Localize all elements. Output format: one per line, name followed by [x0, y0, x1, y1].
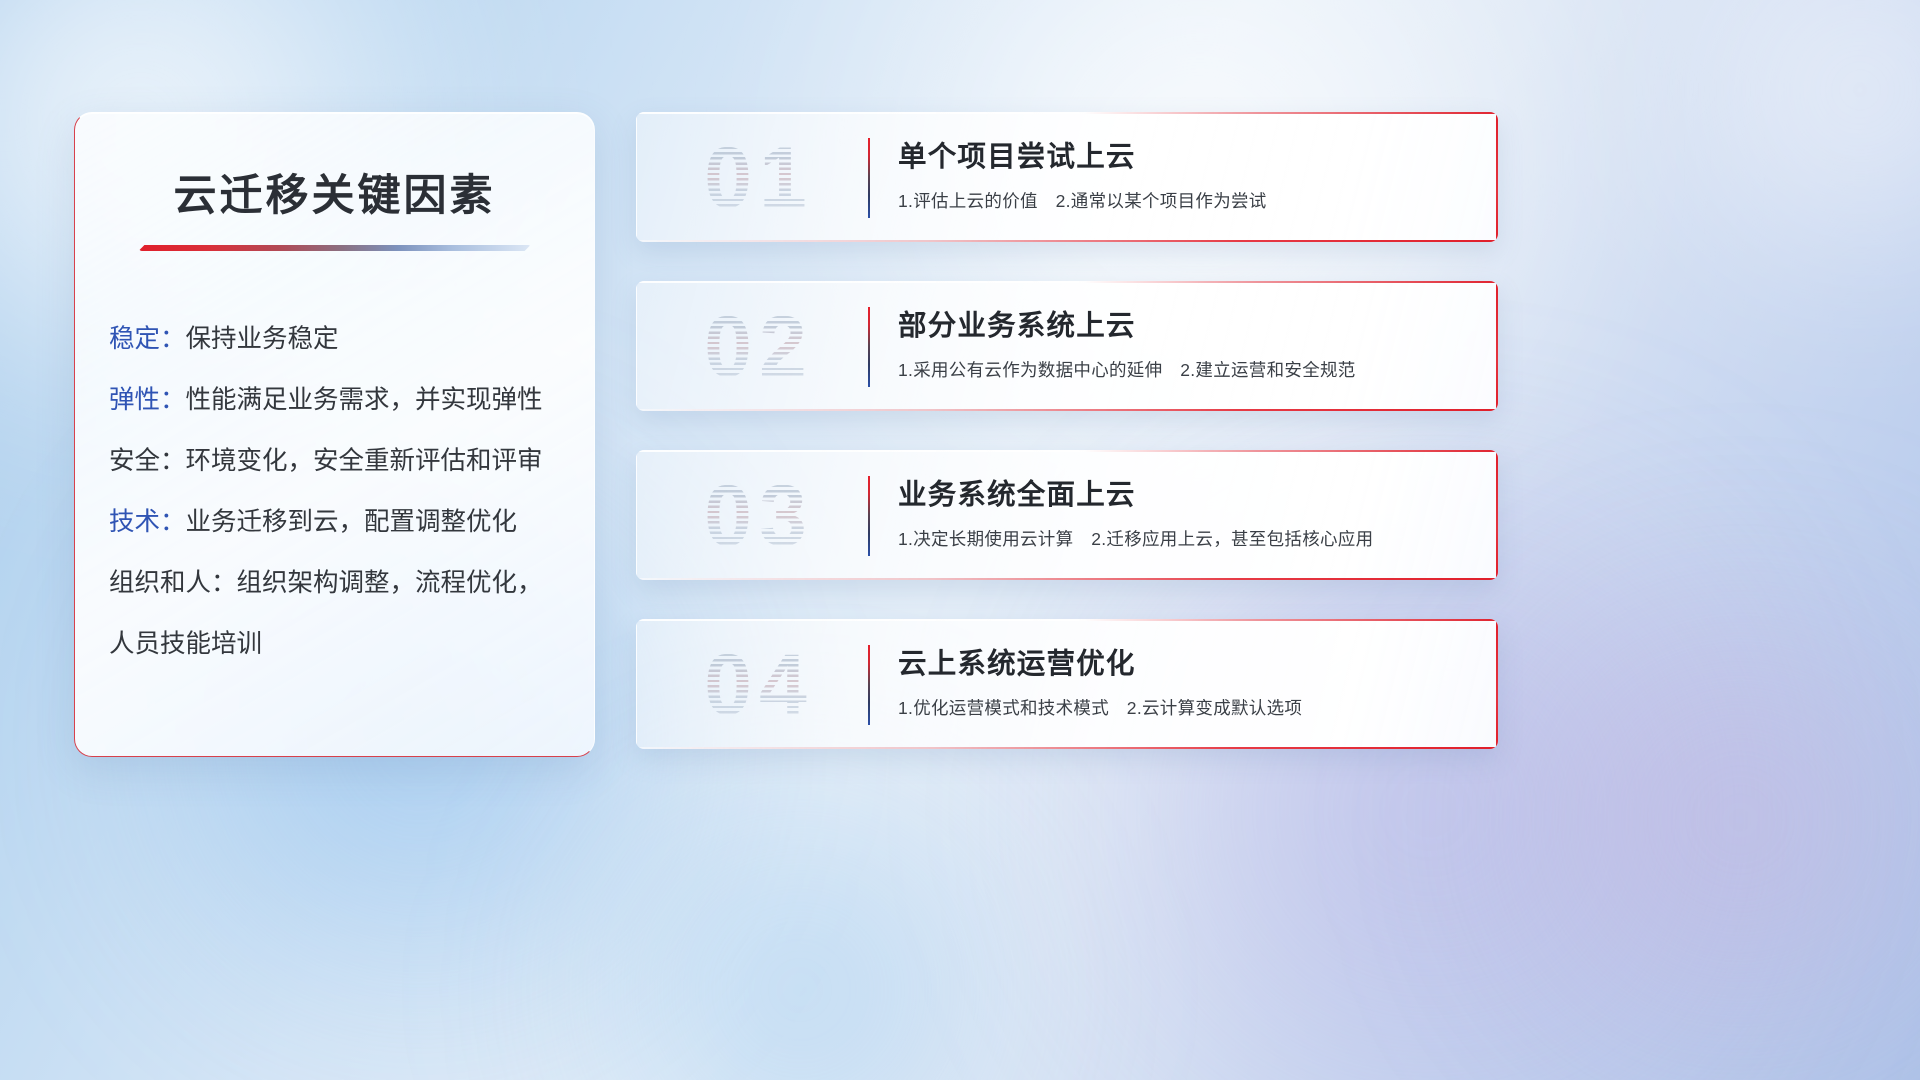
- card-left-edge: [636, 621, 637, 747]
- stage-card[interactable]: 04 云上系统运营优化 1.优化运营模式和技术模式 2.云计算变成默认选项: [636, 619, 1498, 749]
- card-description: 1.评估上云的价值 2.通常以某个项目作为尝试: [898, 188, 1474, 213]
- list-item-value: 业务迁移到云，配置调整优化: [186, 508, 518, 536]
- list-item-value: 性能满足业务需求，并实现弹性: [186, 386, 543, 414]
- card-title: 业务系统全面上云: [898, 472, 1474, 513]
- card-bottom-accent: [636, 240, 1498, 242]
- card-divider: [868, 138, 870, 218]
- card-top-accent: [636, 450, 1498, 452]
- list-item: 安全：环境变化，安全重新评估和评审: [109, 431, 594, 492]
- stage-number: 02: [664, 295, 854, 399]
- card-title: 部分业务系统上云: [898, 303, 1474, 344]
- card-title: 单个项目尝试上云: [898, 134, 1474, 175]
- title-underline-gradient: [139, 245, 531, 251]
- card-right-accent: [1496, 619, 1498, 749]
- list-item-key: 安全：: [109, 447, 186, 475]
- list-item-value: 组织架构调整，流程优化，: [237, 569, 543, 597]
- card-top-accent: [636, 112, 1498, 114]
- migration-stage-cards: 01 单个项目尝试上云 1.评估上云的价值 2.通常以某个项目作为尝试 02 部…: [636, 112, 1498, 788]
- page-title: 云迁移关键因素: [75, 161, 594, 223]
- stage-card[interactable]: 01 单个项目尝试上云 1.评估上云的价值 2.通常以某个项目作为尝试: [636, 112, 1498, 242]
- card-bottom-accent: [636, 747, 1498, 749]
- card-right-accent: [1496, 450, 1498, 580]
- card-left-edge: [636, 114, 637, 240]
- list-item-key: 技术：: [109, 508, 186, 536]
- key-factors-panel: 云迁移关键因素 稳定：保持业务稳定 弹性：性能满足业务需求，并实现弹性 安全：环…: [74, 112, 595, 757]
- card-divider: [868, 476, 870, 556]
- card-top-accent: [636, 281, 1498, 283]
- list-item: 组织和人：组织架构调整，流程优化，: [109, 553, 594, 614]
- card-top-accent: [636, 619, 1498, 621]
- key-factors-list: 稳定：保持业务稳定 弹性：性能满足业务需求，并实现弹性 安全：环境变化，安全重新…: [109, 309, 594, 675]
- card-content: 业务系统全面上云 1.决定长期使用云计算 2.迁移应用上云，甚至包括核心应用: [898, 472, 1474, 551]
- card-left-edge: [636, 452, 637, 578]
- card-description: 1.决定长期使用云计算 2.迁移应用上云，甚至包括核心应用: [898, 526, 1474, 551]
- list-item-key: 弹性：: [109, 386, 186, 414]
- card-content: 部分业务系统上云 1.采用公有云作为数据中心的延伸 2.建立运营和安全规范: [898, 303, 1474, 382]
- list-item: 人员技能培训: [109, 614, 594, 675]
- card-bottom-accent: [636, 578, 1498, 580]
- stage-number: 04: [664, 633, 854, 737]
- card-left-edge: [636, 283, 637, 409]
- card-title: 云上系统运营优化: [898, 641, 1474, 682]
- list-item-value: 保持业务稳定: [186, 325, 339, 353]
- card-description: 1.采用公有云作为数据中心的延伸 2.建立运营和安全规范: [898, 357, 1474, 382]
- list-item-value: 人员技能培训: [109, 630, 262, 658]
- stage-card[interactable]: 02 部分业务系统上云 1.采用公有云作为数据中心的延伸 2.建立运营和安全规范: [636, 281, 1498, 411]
- card-description: 1.优化运营模式和技术模式 2.云计算变成默认选项: [898, 695, 1474, 720]
- card-right-accent: [1496, 112, 1498, 242]
- card-content: 云上系统运营优化 1.优化运营模式和技术模式 2.云计算变成默认选项: [898, 641, 1474, 720]
- list-item-key: 组织和人：: [109, 569, 237, 597]
- list-item: 弹性：性能满足业务需求，并实现弹性: [109, 370, 594, 431]
- list-item: 技术：业务迁移到云，配置调整优化: [109, 492, 594, 553]
- stage-number: 03: [664, 464, 854, 568]
- list-item-value: 环境变化，安全重新评估和评审: [186, 447, 543, 475]
- list-item-key: 稳定：: [109, 325, 186, 353]
- card-right-accent: [1496, 281, 1498, 411]
- stage-number: 01: [664, 126, 854, 230]
- list-item: 稳定：保持业务稳定: [109, 309, 594, 370]
- card-bottom-accent: [636, 409, 1498, 411]
- card-divider: [868, 307, 870, 387]
- card-divider: [868, 645, 870, 725]
- card-content: 单个项目尝试上云 1.评估上云的价值 2.通常以某个项目作为尝试: [898, 134, 1474, 213]
- stage-card[interactable]: 03 业务系统全面上云 1.决定长期使用云计算 2.迁移应用上云，甚至包括核心应…: [636, 450, 1498, 580]
